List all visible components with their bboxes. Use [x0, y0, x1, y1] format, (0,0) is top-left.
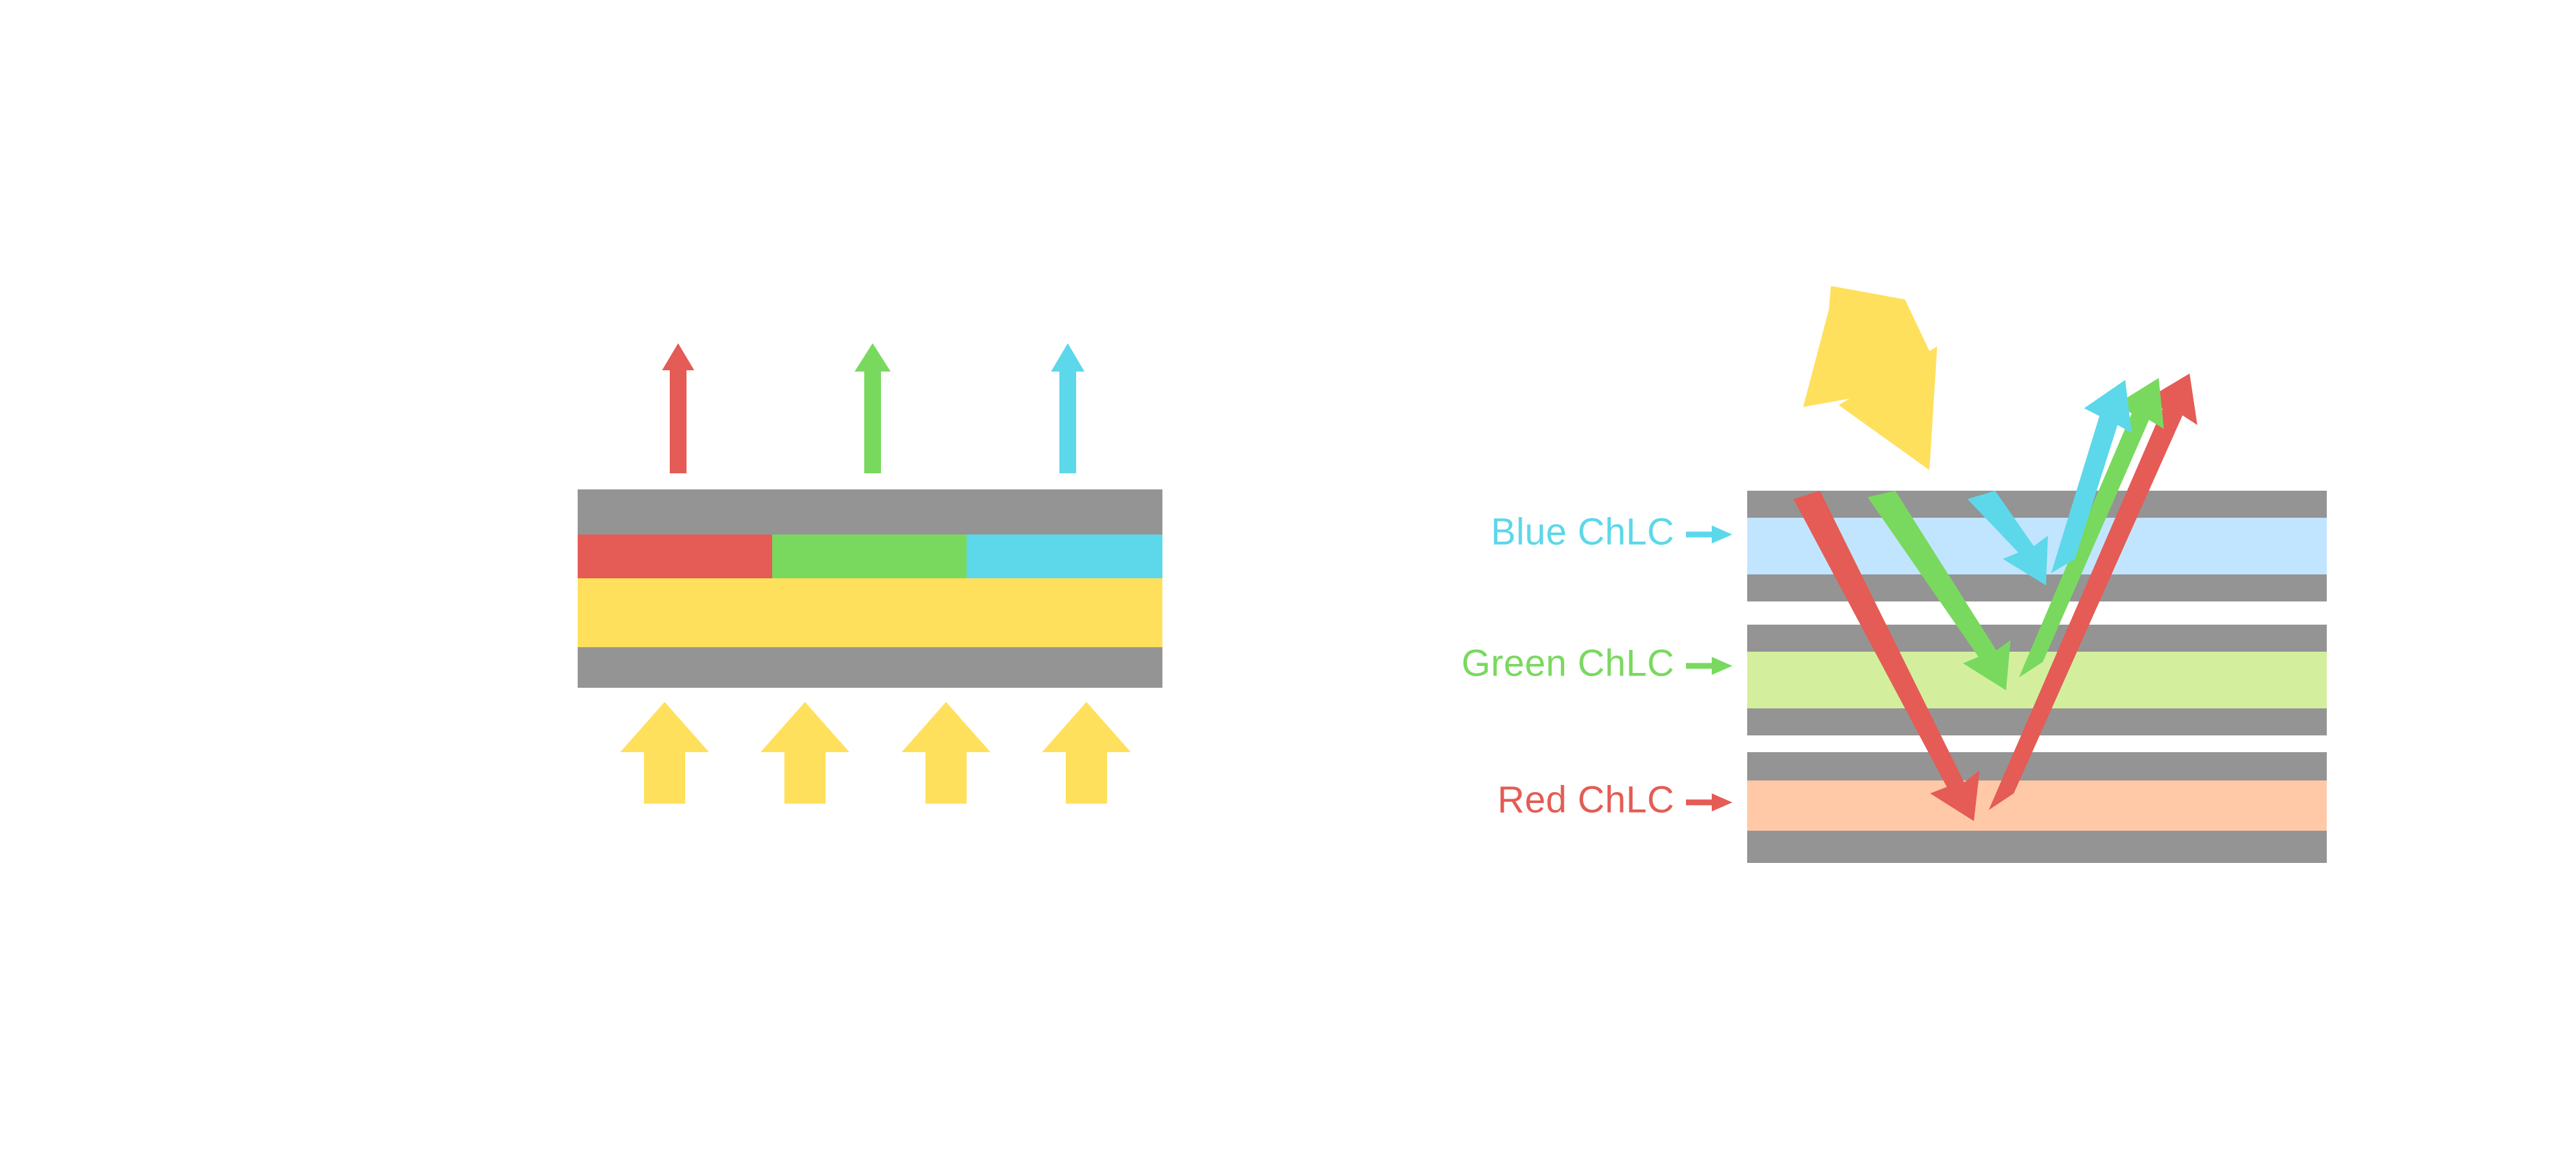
backlight-layer [578, 578, 1162, 647]
blue-top-electrode [1747, 491, 2327, 518]
label-green-chlc-text: Green ChLC [1461, 642, 1674, 684]
backlight-arrow [761, 702, 849, 804]
left-stack [578, 489, 1162, 688]
color-filter-blue [967, 534, 1162, 578]
label-red-chlc-text: Red ChLC [1497, 779, 1674, 820]
label-red-arrow-head [1712, 793, 1732, 811]
bottom-electrode [578, 647, 1162, 688]
backlight-arrows-group [620, 702, 1131, 804]
label-green-arrow-head [1712, 657, 1732, 675]
color-filter-green [772, 534, 967, 578]
backlight-arrow [620, 702, 709, 804]
backlight-arrow [1042, 702, 1131, 804]
cyan-emitted-arrow [1051, 343, 1084, 473]
label-blue-chlc-text: Blue ChLC [1491, 511, 1674, 553]
diagram-svg: Blue ChLC Green ChLC Red ChLC [0, 0, 2576, 1154]
top-electrode [578, 489, 1162, 534]
gap-1 [1747, 601, 2327, 625]
emitted-arrows-group [662, 343, 1084, 473]
green-emitted-arrow [855, 343, 891, 473]
red-emitted-arrow [662, 343, 694, 473]
backlight-arrow [902, 702, 990, 804]
red-bottom-electrode [1747, 831, 2327, 863]
label-green-chlc: Green ChLC [1461, 642, 1732, 684]
red-top-electrode [1747, 752, 2327, 780]
left-panel [578, 343, 1162, 804]
color-filter-red [578, 534, 772, 578]
red-chlc-layer [1747, 780, 2327, 831]
label-blue-chlc: Blue ChLC [1491, 511, 1732, 553]
label-red-chlc: Red ChLC [1497, 779, 1732, 820]
right-panel [1747, 286, 2327, 863]
label-blue-arrow-head [1712, 525, 1732, 544]
right-panel-labels: Blue ChLC Green ChLC Red ChLC [1461, 511, 1732, 820]
figure-canvas: Blue ChLC Green ChLC Red ChLC [0, 0, 2576, 1154]
ambient-light-arrow [1803, 286, 1937, 470]
